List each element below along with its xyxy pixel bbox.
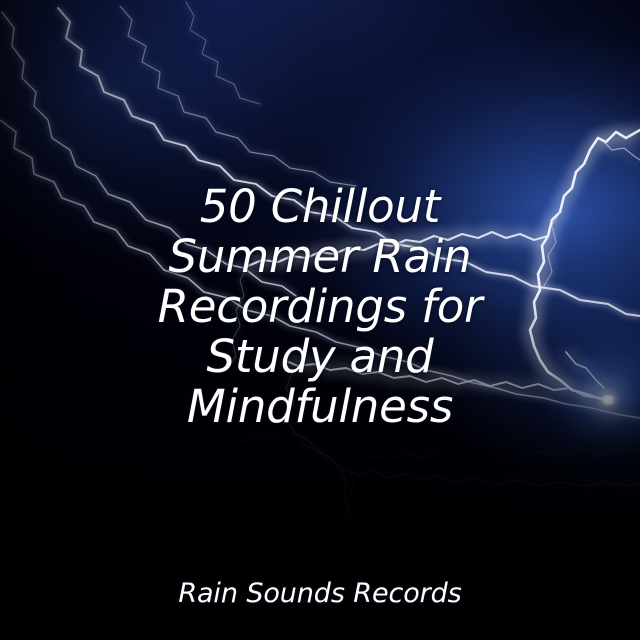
artist-credit: Rain Sounds Records	[0, 578, 640, 610]
album-title-line-5: Mindfulness	[24, 382, 616, 432]
album-cover: 50 Chillout Summer Rain Recordings for S…	[0, 0, 640, 640]
album-title: 50 Chillout Summer Rain Recordings for S…	[0, 182, 640, 432]
album-title-line-3: Recordings for	[24, 282, 616, 332]
album-title-line-4: Study and	[24, 332, 616, 382]
artist-name: Rain Sounds Records	[178, 578, 461, 610]
album-title-line-1: 50 Chillout	[24, 182, 616, 232]
album-title-line-2: Summer Rain	[24, 232, 616, 282]
